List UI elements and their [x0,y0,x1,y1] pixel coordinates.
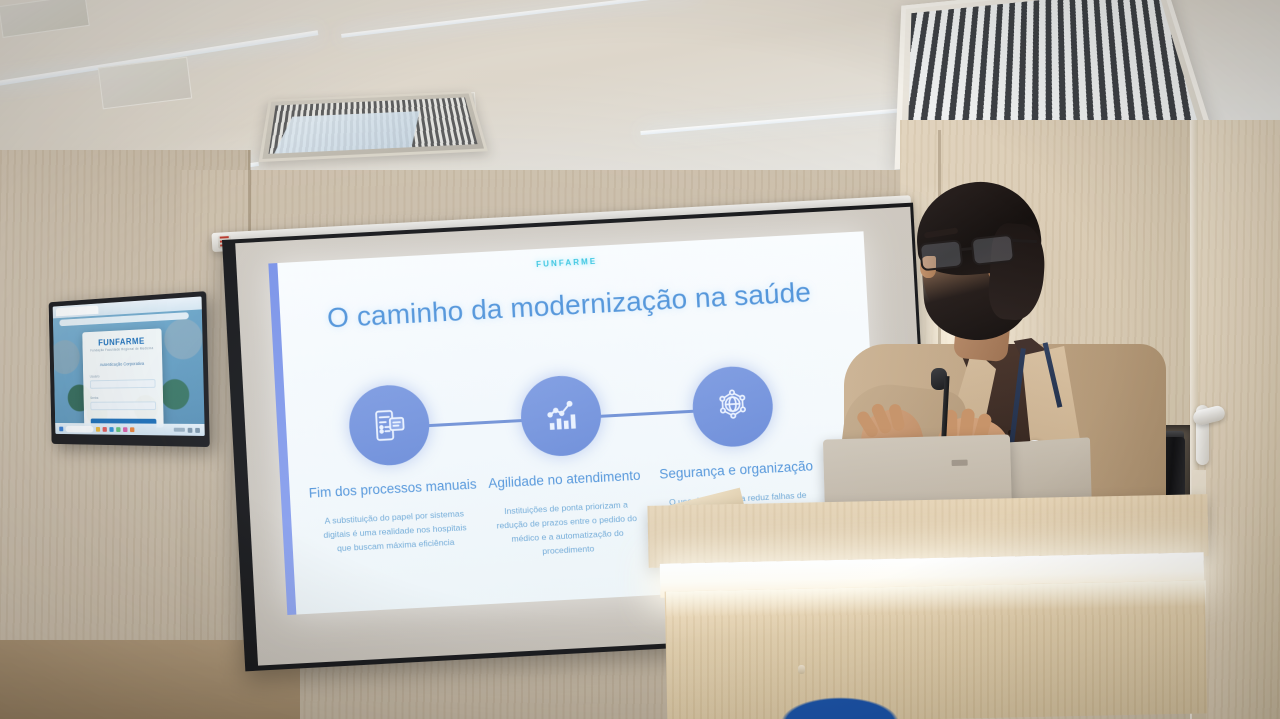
slide-step-1-body: A substituição do papel por sistemas dig… [308,507,482,558]
network-globe-icon [691,365,775,449]
slide-step-1-title: Fim dos processos manuais [306,475,479,502]
slide-step-2: Agilidade no atendimento Instituições de… [473,363,655,562]
password-label: Senha [90,396,156,400]
battery-icon[interactable] [195,427,200,432]
lectern-knob-icon [798,665,805,674]
browser-tab[interactable] [56,305,99,316]
mail-icon[interactable] [103,427,107,432]
volume-icon[interactable] [188,427,193,432]
growth-chart-icon [519,374,603,458]
slide-step-2-body: Instituições de ponta priorizam a reduçã… [480,497,655,562]
browser-icon[interactable] [109,427,113,432]
ceiling-air-diffuser [259,91,488,162]
explorer-icon[interactable] [96,427,100,432]
monitor-screen: FUNFARME Fundação Faculdade Regional de … [53,296,205,436]
slide-step-1: Fim dos processos manuais A substituição… [301,373,482,558]
ceiling-panel-vent-3 [0,0,90,38]
wall-mounted-display[interactable]: FUNFARME Fundação Faculdade Regional de … [49,291,210,447]
presentation-room-scene: FUNFARME Fundação Faculdade Regional de … [0,0,1280,719]
slide-step-2-title: Agilidade no atendimento [478,466,651,493]
chat-icon[interactable] [116,427,120,432]
slide-title: O caminho da modernização na saúde [271,273,868,337]
login-card: FUNFARME Fundação Faculdade Regional de … [82,328,163,427]
login-heading: Autenticação Corporativa [89,361,155,368]
password-input[interactable] [90,401,156,410]
slide-step-3-title: Segurança e organização [650,457,823,484]
taskbar-search-input[interactable] [66,425,94,432]
digital-forms-icon [347,383,431,467]
start-icon[interactable] [59,426,63,431]
network-icon[interactable] [174,428,185,432]
windows-taskbar[interactable] [55,423,205,436]
username-label: Usuário [90,373,156,378]
media-icon[interactable] [130,427,134,432]
username-input[interactable] [90,379,156,389]
laptop-brand-logo-icon [952,460,968,466]
store-icon[interactable] [123,427,127,432]
